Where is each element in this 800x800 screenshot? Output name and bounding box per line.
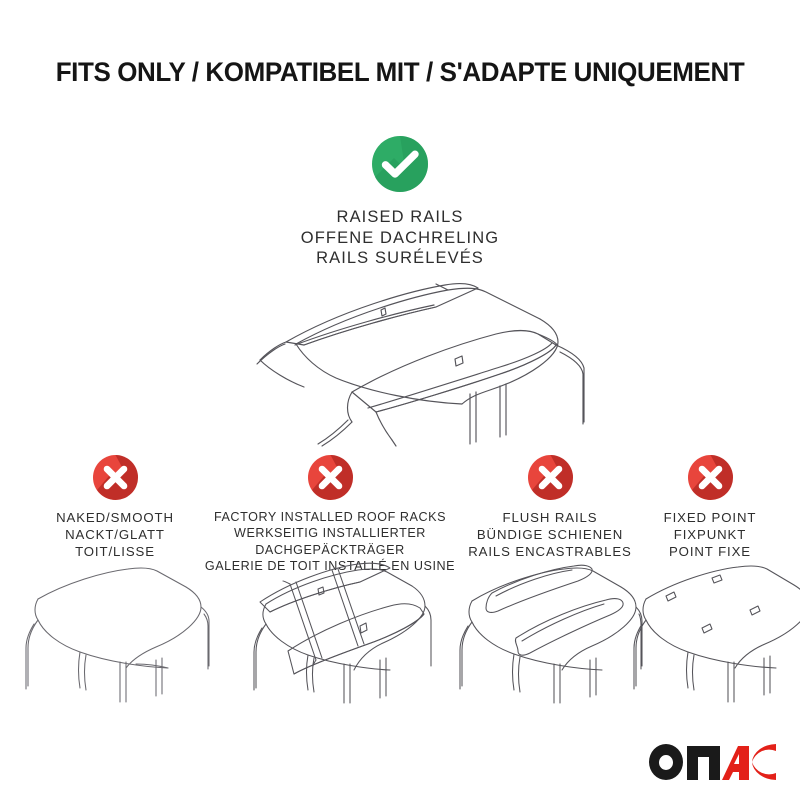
car-roof-fixed-point-illustration xyxy=(618,556,800,706)
column-labels: FIXED POINT FIXPUNKT POINT FIXE xyxy=(630,509,790,561)
compatible-section: RAISED RAILS OFFENE DACHRELING RAILS SUR… xyxy=(0,136,800,269)
label-de: FIXPUNKT xyxy=(630,526,790,543)
car-roof-naked-illustration xyxy=(8,556,213,706)
label-en: FACTORY INSTALLED ROOF RACKS xyxy=(200,509,460,525)
incompatible-column-naked-smooth: NAKED/SMOOTH NACKT/GLATT TOIT/LISSE xyxy=(15,455,215,561)
page-title: FITS ONLY / KOMPATIBEL MIT / S'ADAPTE UN… xyxy=(8,57,792,88)
incompatible-column-flush-rails: FLUSH RAILS BÜNDIGE SCHIENEN RAILS ENCAS… xyxy=(450,455,650,561)
label-en: FLUSH RAILS xyxy=(450,509,650,526)
column-labels: NAKED/SMOOTH NACKT/GLATT TOIT/LISSE xyxy=(15,509,215,561)
compatibility-infographic: FITS ONLY / KOMPATIBEL MIT / S'ADAPTE UN… xyxy=(0,0,800,800)
column-labels: FLUSH RAILS BÜNDIGE SCHIENEN RAILS ENCAS… xyxy=(450,509,650,561)
x-circle-icon xyxy=(528,455,573,500)
logo-letter-o xyxy=(649,744,683,780)
x-circle-icon xyxy=(308,455,353,500)
logo-letter-c xyxy=(752,744,776,780)
label-de: BÜNDIGE SCHIENEN xyxy=(450,526,650,543)
label-en: NAKED/SMOOTH xyxy=(15,509,215,526)
car-roof-raised-rails-illustration xyxy=(0,282,800,447)
car-roof-flush-rails-illustration xyxy=(440,556,645,706)
roof-illustrations-strip xyxy=(0,556,800,706)
x-circle-icon xyxy=(688,455,733,500)
x-circle-icon xyxy=(93,455,138,500)
label-en: FIXED POINT xyxy=(630,509,790,526)
logo-letter-a xyxy=(722,746,749,780)
label-de-1: WERKSEITIG INSTALLIERTER xyxy=(200,525,460,541)
car-roof-factory-racks-illustration xyxy=(228,556,433,706)
incompatible-column-fixed-point: FIXED POINT FIXPUNKT POINT FIXE xyxy=(630,455,790,561)
compatible-label-en: RAISED RAILS xyxy=(0,207,800,228)
compatible-label-de: OFFENE DACHRELING xyxy=(0,228,800,249)
logo-letter-m xyxy=(687,746,720,780)
check-circle-icon xyxy=(372,136,428,192)
label-de: NACKT/GLATT xyxy=(15,526,215,543)
compatible-label-fr: RAILS SURÉLEVÉS xyxy=(0,248,800,269)
omac-logo xyxy=(648,742,778,782)
compatible-labels: RAISED RAILS OFFENE DACHRELING RAILS SUR… xyxy=(0,207,800,269)
